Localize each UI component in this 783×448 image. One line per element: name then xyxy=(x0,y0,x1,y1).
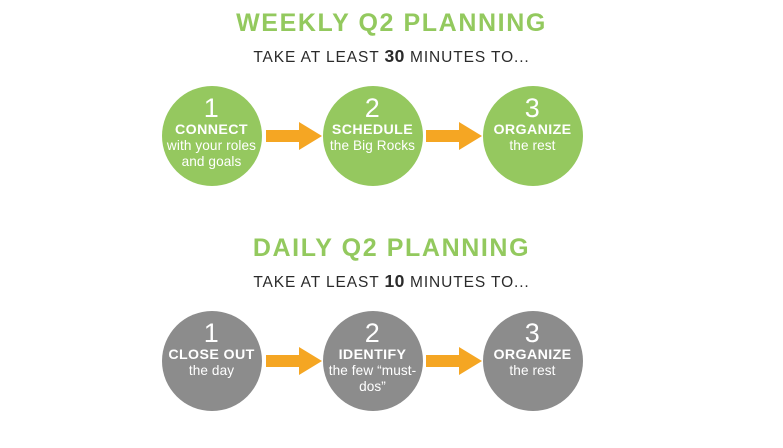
daily-subheading-before: TAKE AT LEAST xyxy=(253,274,384,291)
right-arrow-icon xyxy=(426,347,482,375)
daily-subheading-number: 10 xyxy=(385,271,405,291)
weekly-subheading-number: 30 xyxy=(385,46,405,66)
daily-step-2-title: IDENTIFY xyxy=(339,347,407,363)
daily-step-3-sub: the rest xyxy=(505,363,559,379)
right-arrow-icon xyxy=(266,347,322,375)
weekly-step-1-title: CONNECT xyxy=(175,122,248,138)
daily-step-3-title: ORGANIZE xyxy=(493,347,571,363)
weekly-step-3-number: 3 xyxy=(525,95,541,121)
weekly-step-3-title: ORGANIZE xyxy=(493,122,571,138)
daily-step-2-sub: the few “must-dos” xyxy=(323,363,423,394)
weekly-step-1-sub: with your roles and goals xyxy=(162,138,262,169)
weekly-subheading-before: TAKE AT LEAST xyxy=(253,49,384,66)
right-arrow-icon xyxy=(266,122,322,150)
daily-step-1[interactable]: 1 CLOSE OUT the day xyxy=(162,311,262,411)
daily-step-3-number: 3 xyxy=(525,320,541,346)
daily-step-1-number: 1 xyxy=(204,320,220,346)
weekly-step-3[interactable]: 3 ORGANIZE the rest xyxy=(483,86,583,186)
section-weekly: WEEKLY Q2 PLANNING TAKE AT LEAST 30 MINU… xyxy=(0,8,783,191)
weekly-subheading: TAKE AT LEAST 30 MINUTES TO... xyxy=(0,45,783,69)
weekly-step-2-title: SCHEDULE xyxy=(332,122,413,138)
weekly-step-1[interactable]: 1 CONNECT with your roles and goals xyxy=(162,86,262,186)
daily-step-2[interactable]: 2 IDENTIFY the few “must-dos” xyxy=(323,311,423,411)
daily-step-1-sub: the day xyxy=(185,363,238,379)
weekly-step-1-number: 1 xyxy=(204,95,220,121)
infographic-canvas: WEEKLY Q2 PLANNING TAKE AT LEAST 30 MINU… xyxy=(0,0,783,448)
weekly-heading: WEEKLY Q2 PLANNING xyxy=(0,8,783,38)
weekly-subheading-after: MINUTES TO... xyxy=(405,49,530,66)
daily-step-3[interactable]: 3 ORGANIZE the rest xyxy=(483,311,583,411)
right-arrow-icon xyxy=(426,122,482,150)
weekly-flow: 1 CONNECT with your roles and goals 2 SC… xyxy=(162,81,622,191)
daily-step-1-title: CLOSE OUT xyxy=(168,347,254,363)
section-daily: DAILY Q2 PLANNING TAKE AT LEAST 10 MINUT… xyxy=(0,233,783,416)
weekly-step-3-sub: the rest xyxy=(505,138,559,154)
weekly-step-2[interactable]: 2 SCHEDULE the Big Rocks xyxy=(323,86,423,186)
daily-heading: DAILY Q2 PLANNING xyxy=(0,233,783,263)
weekly-step-2-sub: the Big Rocks xyxy=(326,138,419,154)
daily-subheading: TAKE AT LEAST 10 MINUTES TO... xyxy=(0,270,783,294)
daily-subheading-after: MINUTES TO... xyxy=(405,274,530,291)
daily-step-2-number: 2 xyxy=(365,320,381,346)
weekly-step-2-number: 2 xyxy=(365,95,381,121)
daily-flow: 1 CLOSE OUT the day 2 IDENTIFY the few “… xyxy=(162,306,622,416)
